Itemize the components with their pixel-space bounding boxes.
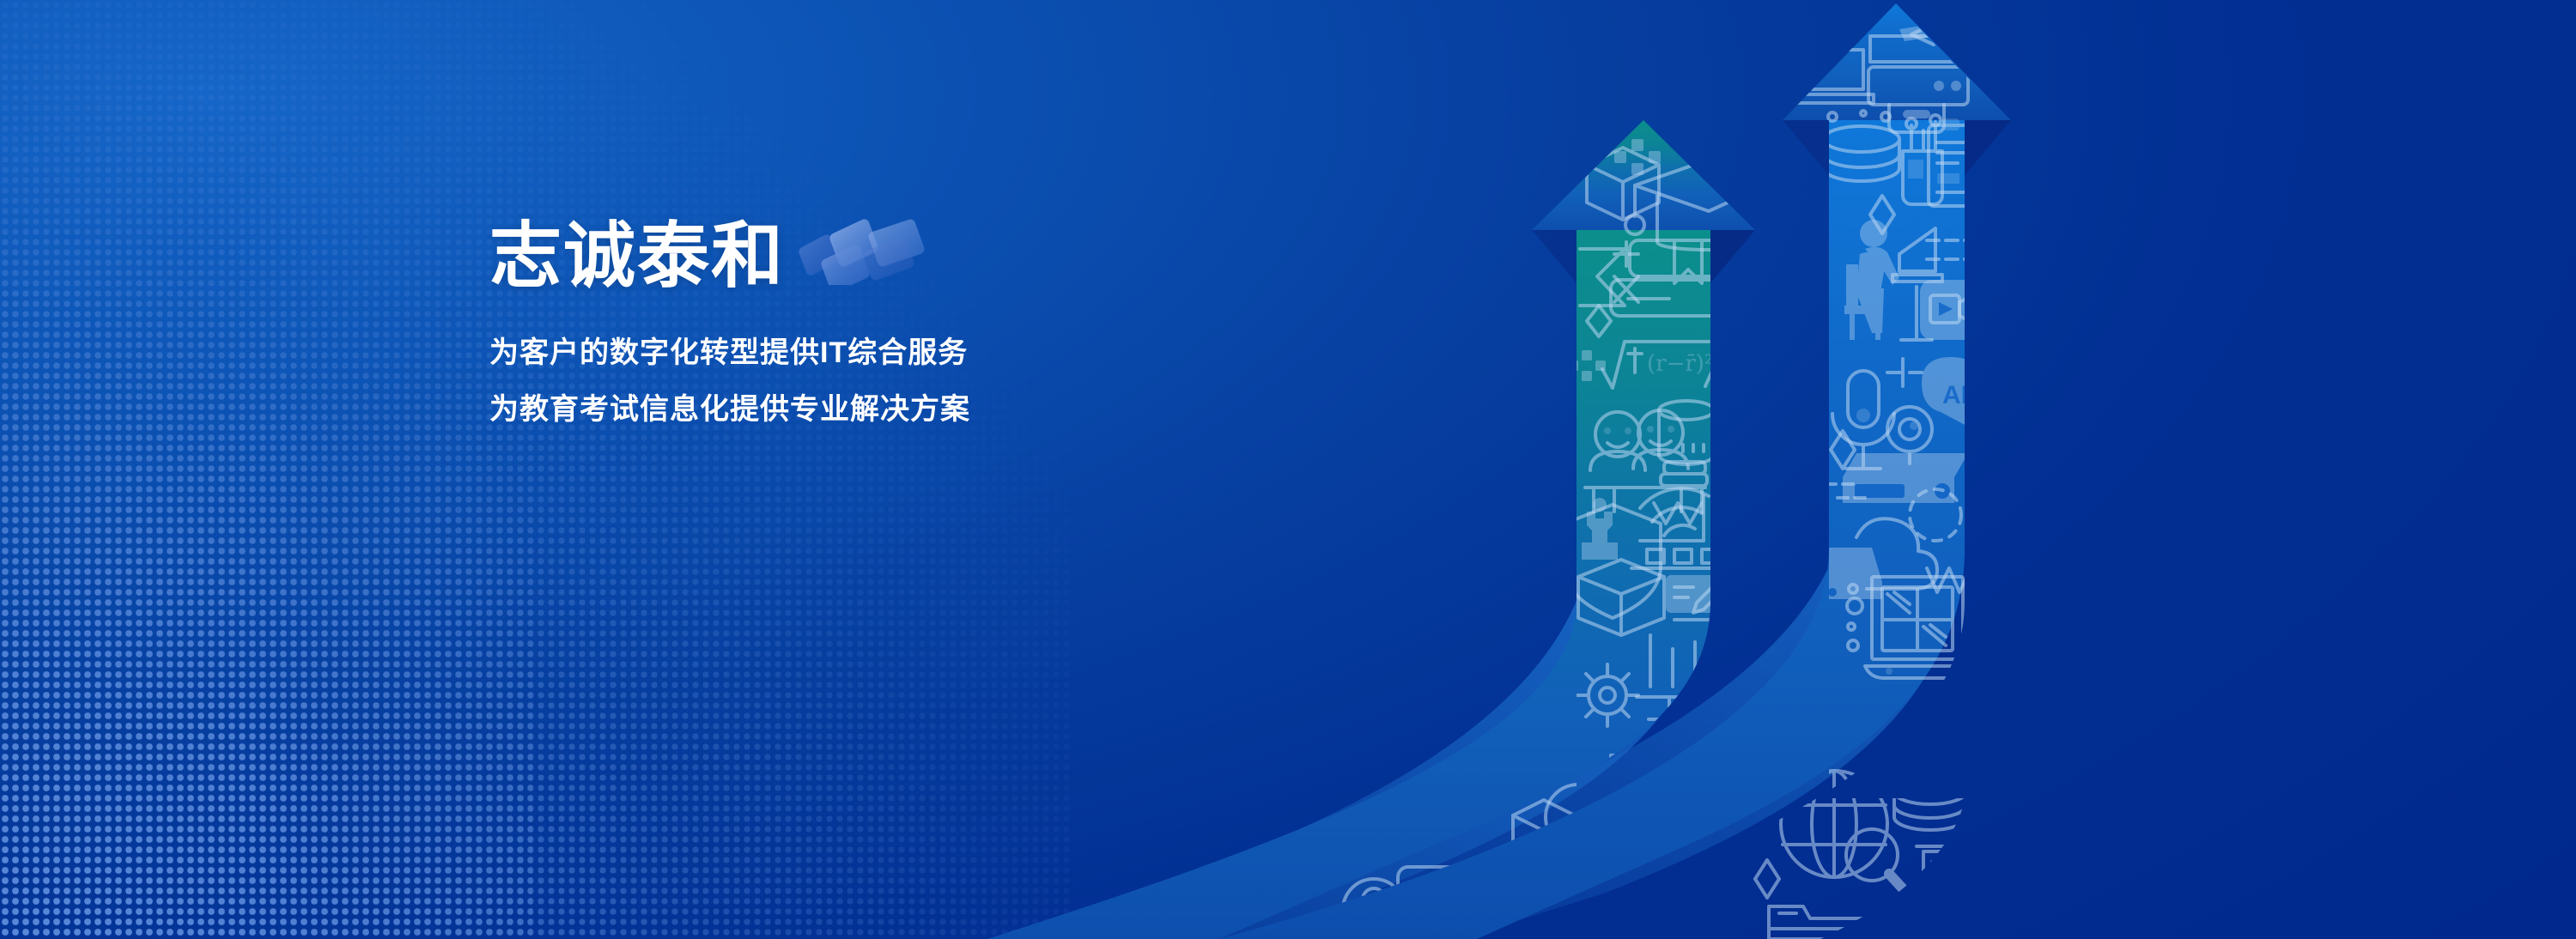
arrow-illustration: .ic{fill:none;stroke:#a9c9ee;stroke-widt… bbox=[0, 0, 2576, 939]
diamond-sparkle-icon bbox=[1755, 860, 1779, 898]
database-disk-icon bbox=[1894, 778, 1966, 830]
hero-copy: 志诚泰和 bbox=[489, 199, 1262, 424]
set-top-box-icon bbox=[1843, 453, 1968, 503]
video-camera-play-icon bbox=[1920, 280, 1978, 340]
page-title: 志诚泰和 bbox=[489, 220, 785, 292]
presentation-chart-icon bbox=[1917, 846, 1980, 934]
heart-icon bbox=[1949, 908, 1990, 939]
tagline-1: 为客户的数字化转型提供IT综合服务 bbox=[489, 338, 1262, 367]
tagline-group: 为客户的数字化转型提供IT综合服务 为教育考试信息化提供专业解决方案 bbox=[489, 338, 1262, 424]
tagline-2: 为教育考试信息化提供专业解决方案 bbox=[489, 395, 1262, 424]
svg-text:(r−r̄)²/n: (r−r̄)²/n bbox=[1647, 351, 1735, 377]
hero-banner: .ic{fill:none;stroke:#a9c9ee;stroke-widt… bbox=[0, 0, 2576, 939]
brand-row: 志诚泰和 bbox=[489, 199, 1262, 292]
browser-window-icon bbox=[1769, 906, 1887, 939]
zhicheng-taihe-logo-mark bbox=[799, 218, 927, 285]
svg-text:AI: AI bbox=[1942, 381, 1968, 409]
